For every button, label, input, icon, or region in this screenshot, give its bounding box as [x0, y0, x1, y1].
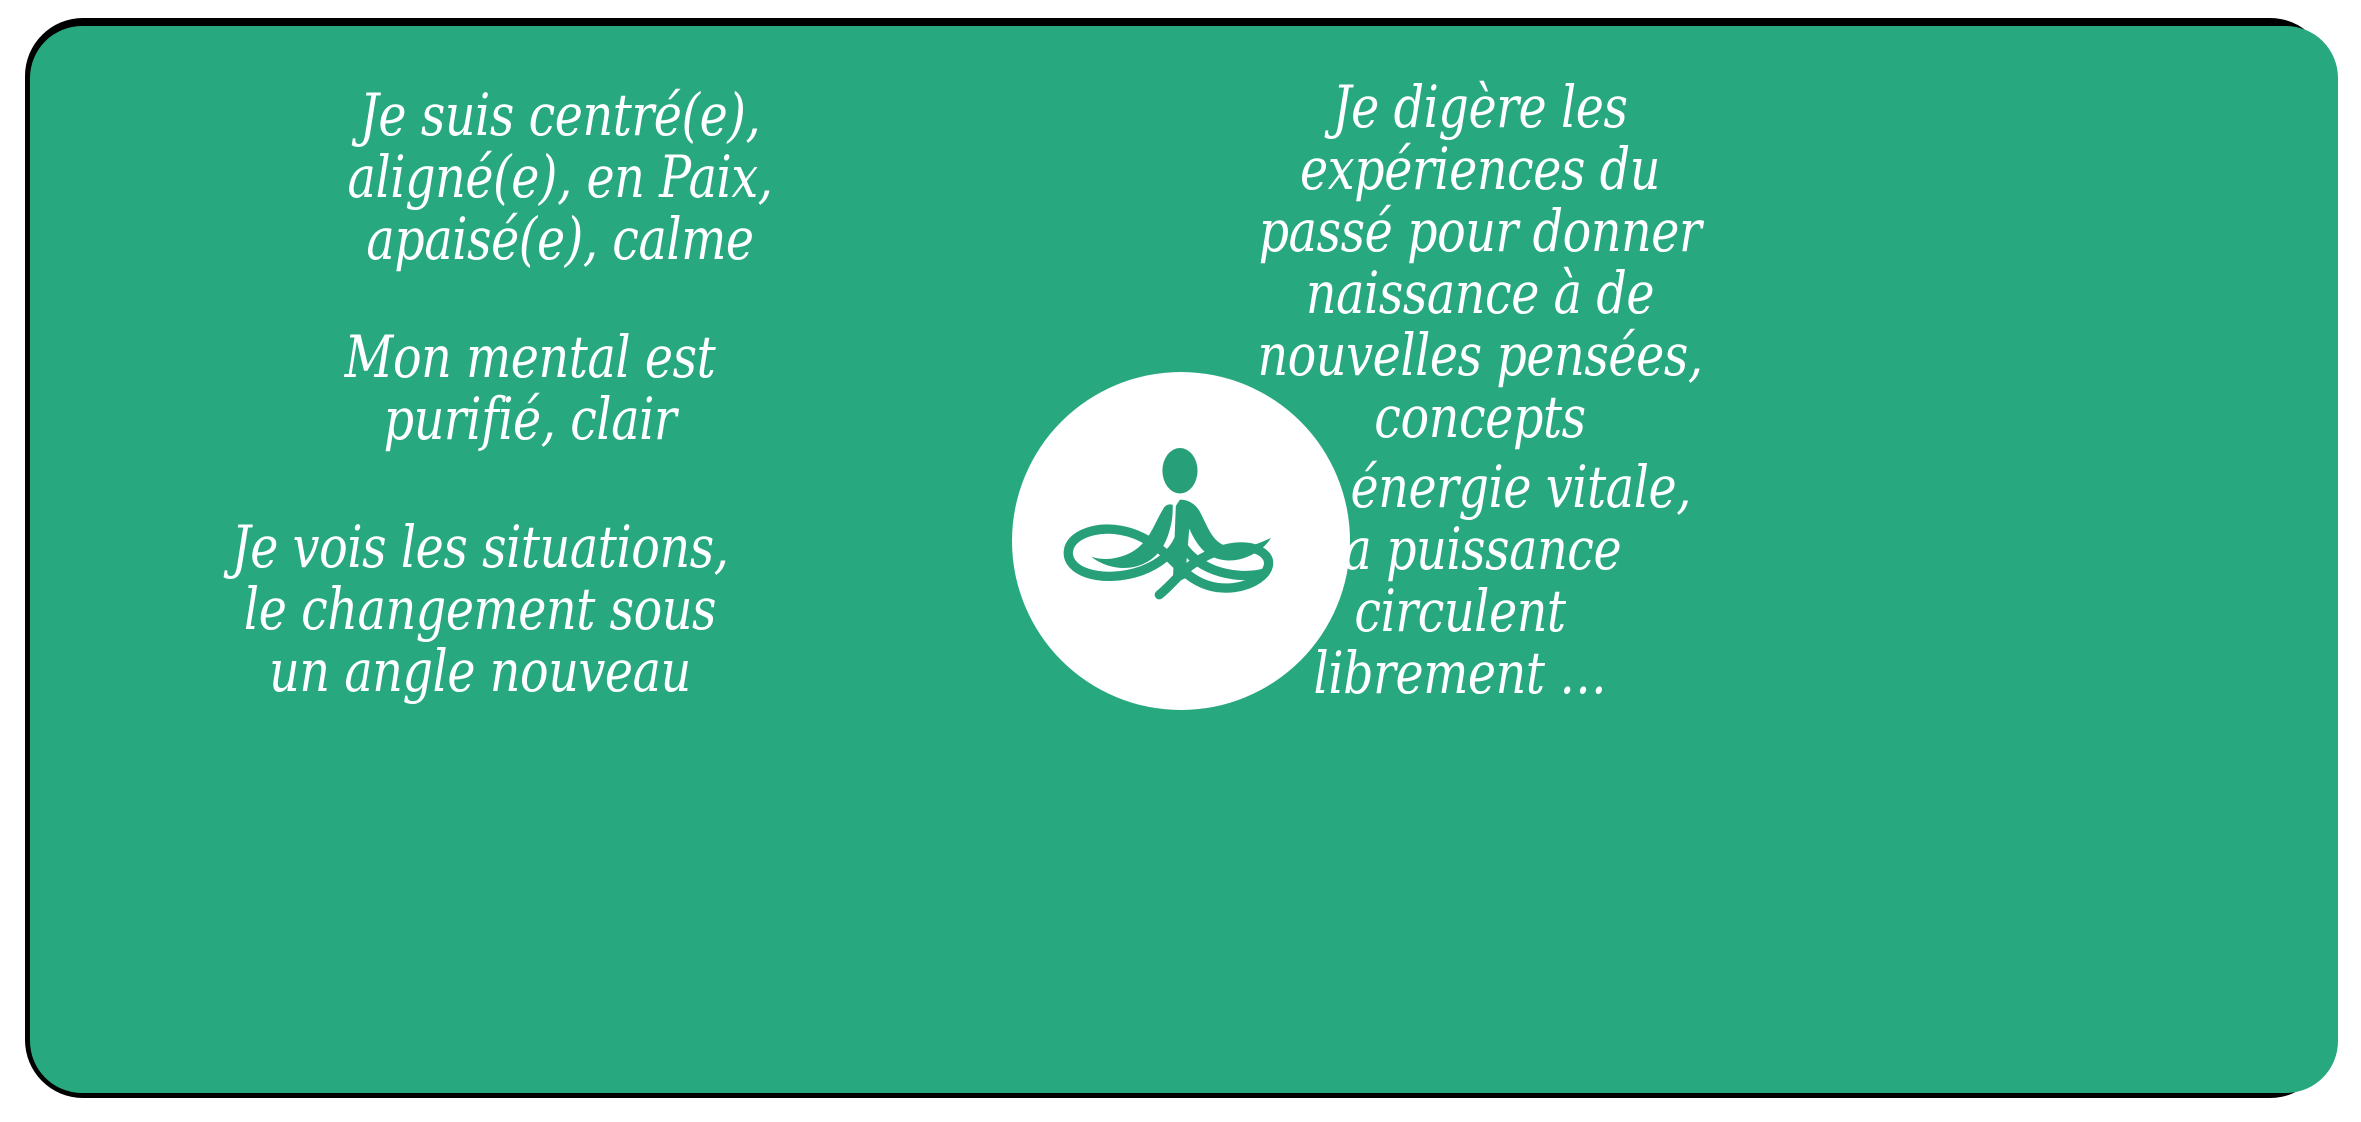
affirmation-text-mental-purifie: Mon mental est purifié, clair — [243, 326, 817, 450]
affirmation-text-digestion-experiences: Je digère les expériences du passé pour … — [1193, 76, 1767, 448]
meditation-lotus-figure-icon — [1057, 417, 1305, 665]
affirmation-text-centre-aligne-paix: Je suis centré(e), aligné(e), en Paix, a… — [248, 84, 871, 270]
affirmation-card: Je suis centré(e), aligné(e), en Paix, a… — [30, 26, 2338, 1093]
logo-badge — [1012, 372, 1350, 710]
poster-canvas: Je suis centré(e), aligné(e), en Paix, a… — [0, 0, 2361, 1122]
affirmation-text-angle-nouveau: Je vois les situations, le changement so… — [144, 516, 816, 702]
